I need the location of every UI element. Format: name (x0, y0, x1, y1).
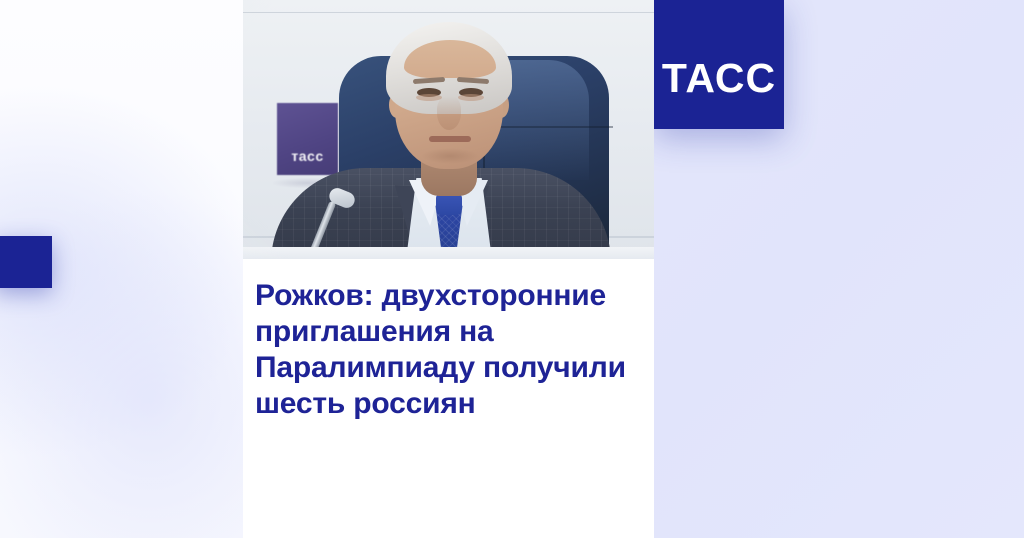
article-headline: Рожков: двухсторонние приглашения на Пар… (255, 278, 641, 422)
wall-tass-banner-text: тасс (291, 149, 323, 163)
subject-mouth (429, 136, 471, 142)
news-card-canvas: ТАСС тасс (0, 0, 1024, 538)
article-card[interactable]: тасс (243, 0, 654, 538)
wall-trim-line-top (243, 12, 654, 13)
conference-desk (243, 247, 654, 259)
subject-nose (437, 96, 461, 130)
tass-logo[interactable]: ТАСС (654, 0, 784, 129)
tass-logo-text: ТАСС (662, 58, 776, 99)
decorative-blue-square (0, 236, 52, 288)
subject-chin-shadow (421, 148, 479, 164)
article-photo: тасс (243, 0, 654, 259)
subject-eyebag-left (416, 94, 442, 101)
subject-eyebag-right (458, 94, 484, 101)
wall-tass-banner: тасс (277, 103, 338, 175)
headline-block: Рожков: двухсторонние приглашения на Пар… (255, 278, 651, 422)
subject-necktie-knot (436, 194, 462, 215)
